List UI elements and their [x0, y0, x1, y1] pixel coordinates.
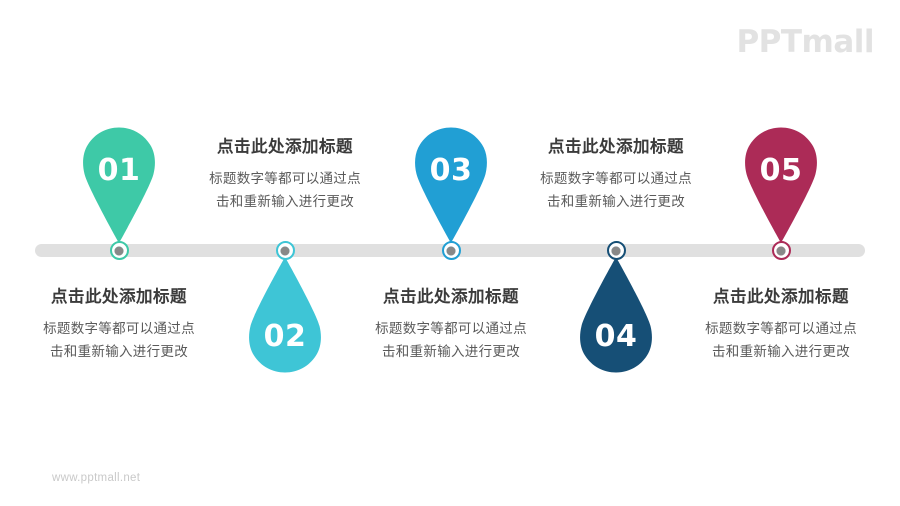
step-body-line2-01: 击和重新输入进行更改 — [13, 340, 225, 363]
pin-number-04: 04 — [572, 319, 660, 354]
footer-url: www.pptmall.net — [52, 472, 140, 484]
step-body-line1-01: 标题数字等都可以通过点 — [13, 317, 225, 340]
timeline-node-dot-03 — [447, 246, 456, 255]
step-body-line1-02: 标题数字等都可以通过点 — [179, 167, 391, 190]
timeline-node-02[interactable] — [276, 241, 295, 260]
step-body-line1-05: 标题数字等都可以通过点 — [675, 317, 887, 340]
step-body-line1-03: 标题数字等都可以通过点 — [345, 317, 557, 340]
pin-number-01: 01 — [75, 153, 163, 188]
timeline-node-01[interactable] — [110, 241, 129, 260]
timeline-node-05[interactable] — [772, 241, 791, 260]
step-text-05: 点击此处添加标题标题数字等都可以通过点击和重新输入进行更改 — [675, 288, 887, 363]
teardrop-icon-02 — [241, 256, 329, 374]
step-title-05: 点击此处添加标题 — [675, 288, 887, 308]
timeline-node-04[interactable] — [607, 241, 626, 260]
step-body-line2-02: 击和重新输入进行更改 — [179, 190, 391, 213]
step-text-02: 点击此处添加标题标题数字等都可以通过点击和重新输入进行更改 — [179, 138, 391, 213]
step-body-line2-05: 击和重新输入进行更改 — [675, 340, 887, 363]
timeline-node-dot-02 — [281, 246, 290, 255]
pin-marker-01[interactable]: 01 — [75, 126, 163, 244]
pptmall-logo: PPTmall — [736, 24, 874, 60]
step-title-01: 点击此处添加标题 — [13, 288, 225, 308]
pin-number-03: 03 — [407, 153, 495, 188]
step-body-line2-04: 击和重新输入进行更改 — [510, 190, 722, 213]
step-title-02: 点击此处添加标题 — [179, 138, 391, 158]
step-text-04: 点击此处添加标题标题数字等都可以通过点击和重新输入进行更改 — [510, 138, 722, 213]
pin-marker-04[interactable]: 04 — [572, 256, 660, 374]
slide-canvas: PPTmall 0102030405 点击此处添加标题标题数字等都可以通过点击和… — [0, 0, 900, 506]
step-title-04: 点击此处添加标题 — [510, 138, 722, 158]
timeline-node-03[interactable] — [442, 241, 461, 260]
step-title-03: 点击此处添加标题 — [345, 288, 557, 308]
step-body-01: 标题数字等都可以通过点击和重新输入进行更改 — [13, 317, 225, 363]
pin-number-02: 02 — [241, 319, 329, 354]
pin-number-05: 05 — [737, 153, 825, 188]
timeline-node-dot-05 — [777, 246, 786, 255]
step-body-04: 标题数字等都可以通过点击和重新输入进行更改 — [510, 167, 722, 213]
pin-marker-02[interactable]: 02 — [241, 256, 329, 374]
step-body-05: 标题数字等都可以通过点击和重新输入进行更改 — [675, 317, 887, 363]
step-text-03: 点击此处添加标题标题数字等都可以通过点击和重新输入进行更改 — [345, 288, 557, 363]
teardrop-icon-04 — [572, 256, 660, 374]
step-body-03: 标题数字等都可以通过点击和重新输入进行更改 — [345, 317, 557, 363]
step-body-line2-03: 击和重新输入进行更改 — [345, 340, 557, 363]
step-body-02: 标题数字等都可以通过点击和重新输入进行更改 — [179, 167, 391, 213]
pin-marker-03[interactable]: 03 — [407, 126, 495, 244]
pin-marker-05[interactable]: 05 — [737, 126, 825, 244]
timeline-node-dot-01 — [115, 246, 124, 255]
timeline-node-dot-04 — [612, 246, 621, 255]
step-text-01: 点击此处添加标题标题数字等都可以通过点击和重新输入进行更改 — [13, 288, 225, 363]
step-body-line1-04: 标题数字等都可以通过点 — [510, 167, 722, 190]
